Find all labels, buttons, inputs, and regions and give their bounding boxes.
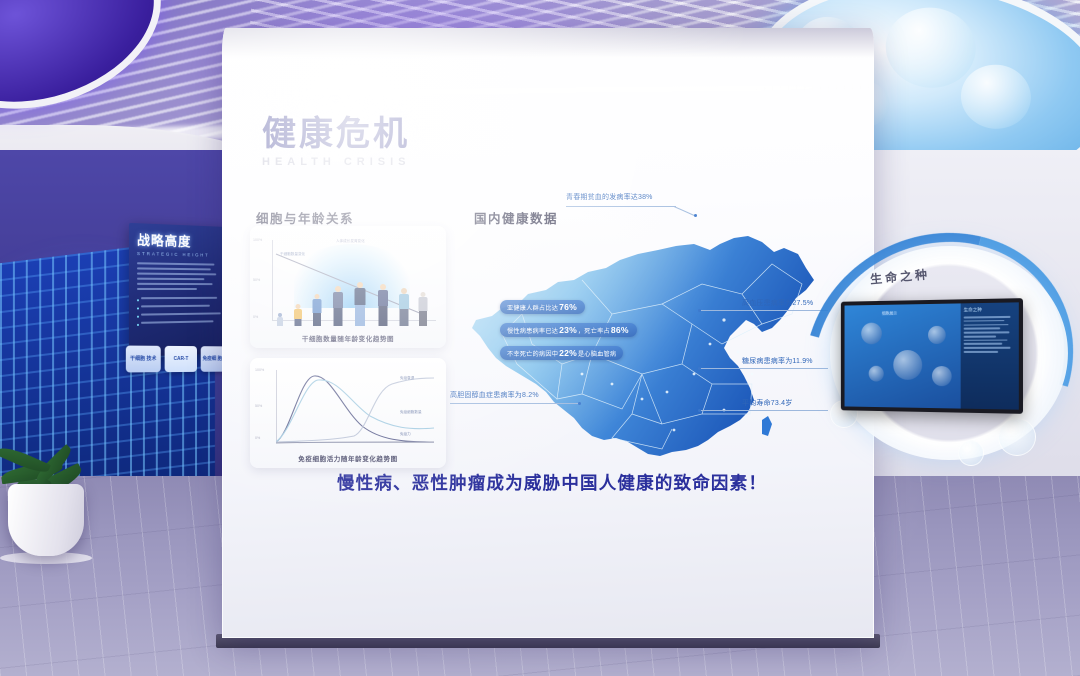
callout-diabetes: 糖尿病患病率为11.9% [742, 356, 813, 366]
decor-bubble [958, 440, 984, 466]
chart-curve-label: 人体成长发育变化 [336, 239, 365, 244]
interactive-display-screen[interactable]: 细胞展示 生命之种 [841, 298, 1023, 414]
callout-cholesterol: 高胆固醇血症患病率为8.2% [450, 390, 539, 400]
pill-chronic-disease: 慢性病患病率已达23%，死亡率占86% [500, 323, 637, 337]
left-panel-title: 战略高度 [137, 229, 221, 251]
callout-anchor-dot [694, 214, 697, 217]
left-panel-subtitle: STRATEGIC HEIGHT [137, 251, 221, 258]
callout-leader-line [450, 403, 580, 404]
chart-card-stem-cell: 100% 50% 0% 干细胞数量变化 人体成长发育变化 [250, 226, 446, 348]
callout-leader-line [700, 410, 828, 411]
callout-life-expectancy: 平均寿命73.4岁 [742, 398, 792, 408]
screen-cell-visual: 细胞展示 [845, 303, 961, 408]
y-tick-label: 100% [255, 368, 264, 372]
bullet-dot-icon [137, 307, 139, 309]
pill-cardiovascular: 不幸死亡的病因中22%是心脑血管病 [500, 346, 623, 360]
cell-graphic [932, 366, 952, 386]
cart-button[interactable]: CAR-T [164, 346, 197, 372]
left-panel-button-row: 干细胞 技术 CAR-T 免疫细 胞储存 [126, 339, 233, 378]
screen-panel-title: 生命之种 [964, 307, 1016, 314]
bullet-dot-icon [137, 315, 139, 317]
callout-hypertension: 高血压患病率为27.5% [742, 298, 813, 308]
y-tick-label: 0% [255, 436, 260, 440]
pill-text: 慢性病患病率已达 [507, 326, 558, 335]
legend-label-3: 免疫力 [400, 432, 411, 437]
left-panel-bullet [137, 312, 221, 318]
pill-value: 23% [559, 325, 577, 335]
left-exhibit-panel[interactable]: 战略高度 STRATEGIC HEIGHT [129, 223, 228, 357]
left-panel-bullet [137, 320, 221, 327]
left-panel-bullet [137, 297, 221, 303]
bullet-dot-icon [137, 323, 139, 325]
pill-text: 不幸死亡的病因中 [507, 349, 558, 358]
page-title: 健康危机 [262, 106, 411, 155]
chart-series-label: 干细胞数量变化 [280, 252, 305, 257]
pill-value: 86% [611, 325, 629, 335]
callout-anchor-dot [698, 367, 701, 370]
cell-graphic [861, 323, 882, 345]
pill-text: ，死亡率占 [578, 326, 610, 335]
chart-card-immune-cell: 100% 50% 0% 免疫衰退 免疫细胞数量 免疫力 免疫细胞活力随年龄变化趋… [250, 358, 446, 468]
left-panel-body-text [137, 262, 221, 327]
main-display-wall: 健康危机 HEALTH CRISIS 细胞与年龄关系 国内健康数据 100% 5… [222, 28, 874, 638]
y-tick-label: 50% [255, 404, 262, 408]
callout-anchor-dot [698, 309, 701, 312]
pill-value: 76% [559, 302, 577, 312]
callout-leader-line [566, 206, 676, 207]
pill-value: 22% [559, 348, 577, 358]
bullet-dot-icon [137, 299, 139, 301]
planter-pot [8, 484, 84, 556]
decor-bubble [998, 418, 1036, 456]
chart-caption-immune: 免疫细胞活力随年龄变化趋势图 [250, 453, 446, 463]
screen-left-label: 细胞展示 [882, 311, 897, 317]
pill-text: 亚健康人群占比达 [507, 303, 558, 312]
y-axis [272, 240, 273, 320]
legend-label-1: 免疫衰退 [400, 376, 414, 381]
y-tick-label: 50% [253, 278, 260, 282]
chart-caption-stem-cell: 干细胞数量随年龄变化趋势图 [250, 333, 446, 343]
cell-graphic [893, 350, 922, 380]
callout-leader-line [674, 206, 696, 217]
section-heading-cell-age: 细胞与年龄关系 [256, 208, 354, 227]
pill-subhealth: 亚健康人群占比达76% [500, 300, 585, 314]
bottom-headline: 慢性病、恶性肿瘤成为威胁中国人健康的致命因素！ [252, 470, 852, 495]
cell-graphic [928, 326, 946, 344]
callout-anemia: 青春期贫血的发病率达38% [566, 192, 653, 202]
cell-graphic [869, 366, 884, 382]
y-tick-label: 0% [253, 315, 258, 319]
pill-text: 是心脑血管病 [578, 349, 616, 358]
y-tick-label: 100% [253, 238, 262, 242]
wall-top-shadow [222, 28, 874, 58]
bubble-shape [958, 61, 1034, 132]
stem-cell-button[interactable]: 干细胞 技术 [126, 346, 161, 373]
callout-anchor-dot [698, 409, 701, 412]
legend-label-2: 免疫细胞数量 [400, 410, 422, 415]
page-subtitle: HEALTH CRISIS [262, 156, 411, 168]
callout-anchor-dot [578, 402, 581, 405]
callout-leader-line [700, 310, 828, 311]
board-title-block: 健康危机 HEALTH CRISIS [262, 106, 411, 168]
screen-info-panel: 生命之种 [961, 302, 1019, 409]
left-panel-bullet [137, 305, 221, 311]
exhibition-hall-scene: 战略高度 STRATEGIC HEIGHT 干细胞 技术 CAR-T 免疫细 胞… [0, 0, 1080, 676]
